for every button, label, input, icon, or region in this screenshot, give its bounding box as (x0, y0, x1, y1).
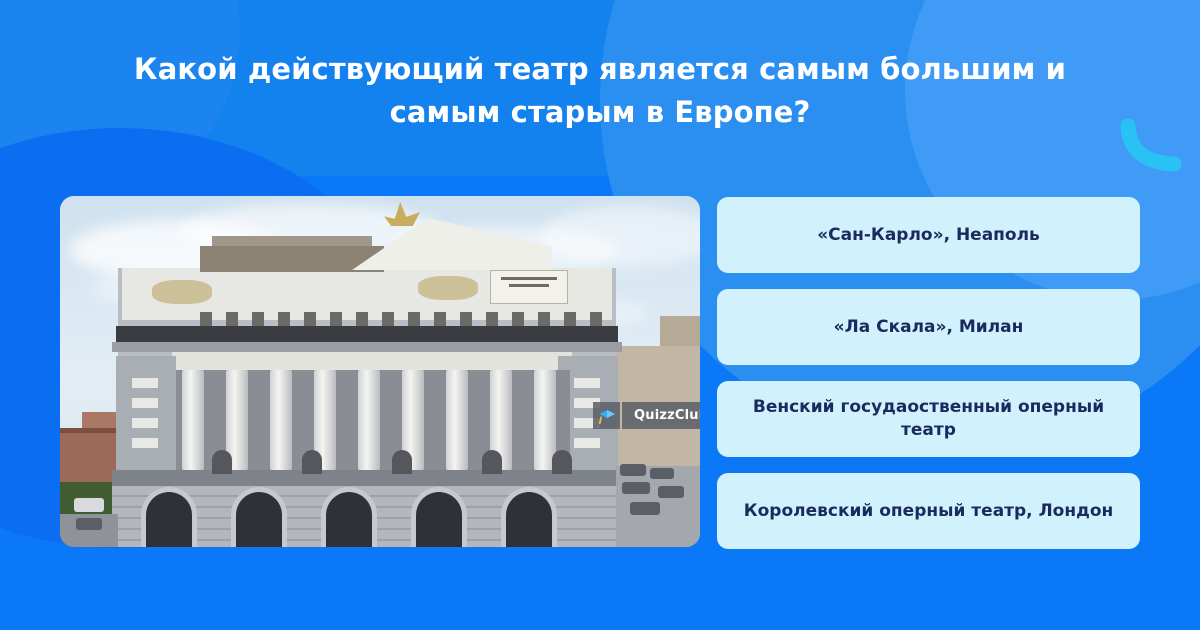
wing-panel (132, 418, 158, 428)
column (446, 370, 468, 470)
graduation-cap-icon (593, 402, 620, 429)
facade-arch (146, 492, 192, 547)
answer-option-1[interactable]: «Сан-Карло», Неаполь (717, 197, 1140, 273)
arc-decoration-icon (1118, 112, 1192, 186)
column (270, 370, 292, 470)
answer-option-3[interactable]: Венский госудаоственный оперный театр (717, 381, 1140, 457)
parked-car (650, 468, 674, 479)
quiz-card: Какой действующий театр является самым б… (0, 0, 1200, 630)
facade-relief (418, 276, 478, 300)
answer-options: «Сан-Карло», Неаполь «Ла Скала», Милан В… (717, 197, 1140, 549)
facade-colonnade (176, 370, 570, 470)
facade-niche (482, 450, 502, 474)
question-image: QuizzClub (60, 196, 700, 547)
facade-sign (490, 270, 568, 304)
facade-niche (392, 450, 412, 474)
facade-cornice-lower (112, 342, 622, 352)
facade-niche (302, 450, 322, 474)
question-title: Какой действующий театр является самым б… (100, 48, 1100, 134)
sign-line (501, 277, 557, 280)
answer-option-4[interactable]: Королевский оперный театр, Лондон (717, 473, 1140, 549)
parked-car (630, 502, 660, 515)
facade-entablature (112, 470, 622, 486)
sign-line (509, 284, 549, 287)
facade-wing-left (116, 356, 176, 470)
facade-niche (212, 450, 232, 474)
parked-car (658, 486, 684, 498)
column (358, 370, 380, 470)
facade-arch (506, 492, 552, 547)
wing-panel (574, 438, 600, 448)
wing-panel (574, 378, 600, 388)
facade-arch (326, 492, 372, 547)
facade-niche (552, 450, 572, 474)
quizzclub-badge: QuizzClub (593, 402, 700, 429)
facade-arch (416, 492, 462, 547)
facade-cornice (116, 326, 618, 342)
parked-car (622, 482, 650, 494)
facade-dentils (200, 312, 610, 326)
quizzclub-label: QuizzClub (622, 402, 700, 429)
wing-panel (132, 438, 158, 448)
wing-panel (132, 378, 158, 388)
parked-car (74, 498, 104, 512)
parked-car (76, 518, 102, 530)
answer-option-2[interactable]: «Ла Скала», Милан (717, 289, 1140, 365)
wing-panel (132, 398, 158, 408)
facade-relief (152, 280, 212, 304)
facade-arch (236, 492, 282, 547)
theatre-photo (60, 196, 700, 547)
parked-car (620, 464, 646, 476)
column (182, 370, 204, 470)
facade-frieze (172, 352, 572, 372)
